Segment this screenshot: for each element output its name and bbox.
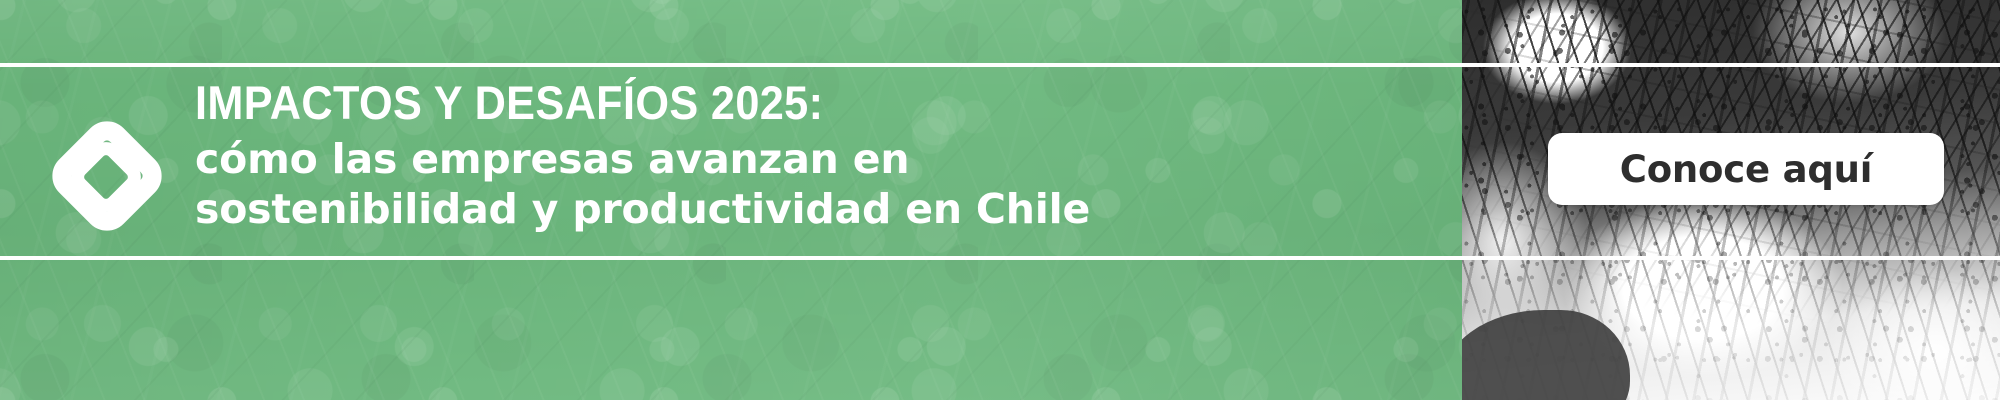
- banner-subheadline-line-2: sostenibilidad y productividad en Chile: [195, 184, 1295, 234]
- banner-copy: IMPACTOS Y DESAFÍOS 2025: cómo las empre…: [195, 78, 1295, 234]
- conoce-aqui-button-label: Conoce aquí: [1620, 148, 1873, 191]
- horizontal-rule-bottom: [0, 256, 2000, 260]
- banner-subheadline-line-1: cómo las empresas avanzan en: [195, 134, 1295, 184]
- horizontal-rule-top: [0, 63, 2000, 67]
- promo-banner: IMPACTOS Y DESAFÍOS 2025: cómo las empre…: [0, 0, 2000, 400]
- banner-headline: IMPACTOS Y DESAFÍOS 2025:: [195, 78, 1207, 128]
- conoce-aqui-button[interactable]: Conoce aquí: [1548, 133, 1944, 205]
- diamond-ribbon-logo-icon: [45, 106, 169, 246]
